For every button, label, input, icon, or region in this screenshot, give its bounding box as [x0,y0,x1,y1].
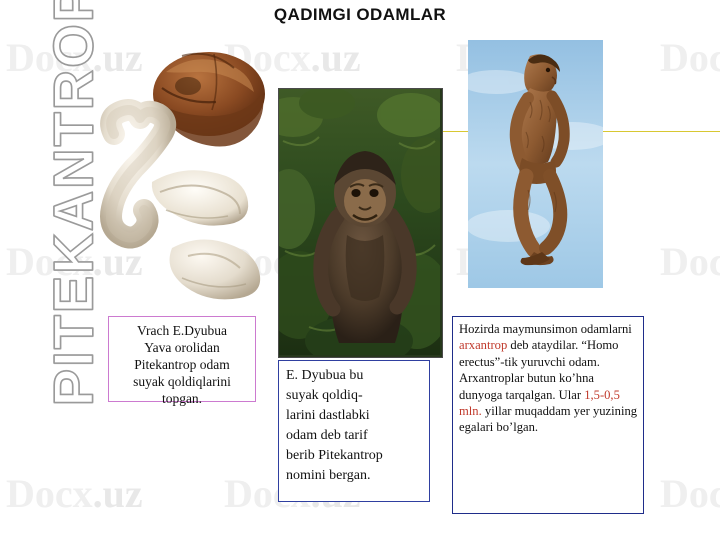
body-text: yillar muqaddam yer yuzining egalari bo’… [459,404,637,434]
text-box-arxantrop-info: Hozirda maymunsimon odamlarni arxantrop … [452,316,644,514]
watermark: Docx.uz [660,470,720,517]
text-line: Vrach E.Dyubua [113,322,251,339]
skull-bones-photo [96,42,286,304]
highlighted-term: arxantrop [459,338,507,352]
watermark: Docx.uz [660,238,720,285]
text-line: topgan. [113,390,251,407]
body-text: Hozirda maymunsimon odamlarni [459,322,632,336]
text-line: larini dastlabki [286,406,423,426]
rich-text-paragraph: Hozirda maymunsimon odamlarni arxantrop … [459,322,637,434]
text-line: suyak qoldiq- [286,386,423,406]
hominid-figure-photo [468,40,603,288]
text-line: odam deb tarif [286,426,423,446]
text-box-dyubua-naming: E. Dyubua bu suyak qoldiq- larini dastla… [278,360,430,502]
text-line: berib Pitekantrop [286,446,423,466]
page-title: QADIMGI ODAMLAR [0,5,720,25]
slide-canvas: Docx.uz Docx.uz Docx.uz Docx.uz Docx.uz … [0,0,720,540]
text-box-dyubua-discovery: Vrach E.Dyubua Yava orolidan Pitekantrop… [108,316,256,402]
ape-in-forest-photo [278,88,443,358]
watermark: Docx.uz [660,34,720,81]
watermark: Docx.uz [6,470,143,517]
text-line: E. Dyubua bu [286,366,423,386]
text-line: Pitekantrop odam [113,356,251,373]
text-line: nomini bergan. [286,466,423,486]
text-line: Yava orolidan [113,339,251,356]
text-line: suyak qoldiqlarini [113,373,251,390]
